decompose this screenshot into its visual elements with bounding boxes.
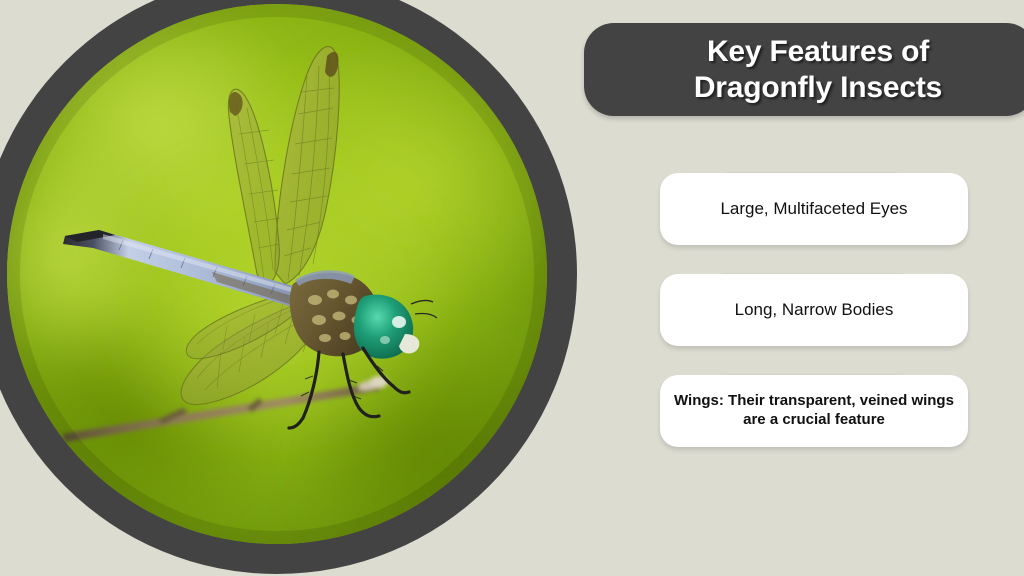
slide-canvas: Key Features of Dragonfly Insects Large,… <box>0 0 1024 576</box>
feature-card-list: Large, Multifaceted Eyes Long, Narrow Bo… <box>660 144 968 447</box>
list-item: Long, Narrow Bodies <box>660 274 968 346</box>
feature-label: Long, Narrow Bodies <box>735 299 894 321</box>
dragonfly-photo <box>7 4 547 544</box>
slide-title-banner: Key Features of Dragonfly Insects <box>584 23 1024 116</box>
dragonfly-illustration <box>7 4 547 544</box>
list-item: Large, Multifaceted Eyes <box>660 173 968 245</box>
feature-card: Large, Multifaceted Eyes <box>660 173 968 245</box>
feature-card: Long, Narrow Bodies <box>660 274 968 346</box>
photo-ring <box>0 0 577 574</box>
feature-label: Large, Multifaceted Eyes <box>720 198 907 220</box>
list-item: Wings: Their transparent, veined wings a… <box>660 375 968 447</box>
feature-label: Wings: Their transparent, veined wings a… <box>674 392 954 430</box>
feature-card: Wings: Their transparent, veined wings a… <box>660 375 968 447</box>
page-title: Key Features of Dragonfly Insects <box>694 34 942 105</box>
